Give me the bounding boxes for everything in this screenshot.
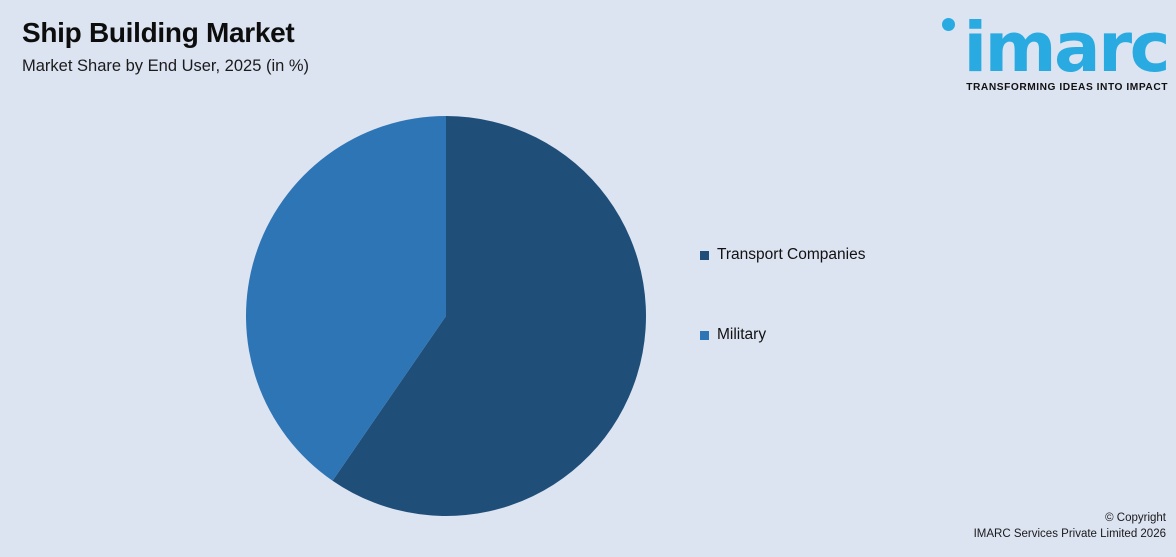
- logo-wordmark-text: imarc: [963, 14, 1168, 83]
- chart-legend: Transport Companies Military: [700, 244, 865, 404]
- imarc-logo: imarc TRANSFORMING IDEAS INTO IMPACT: [920, 10, 1168, 110]
- legend-swatch-icon: [700, 331, 709, 340]
- legend-item-label: Transport Companies: [717, 247, 865, 263]
- chart-subtitle: Market Share by End User, 2025 (in %): [22, 57, 722, 77]
- legend-swatch-icon: [700, 251, 709, 260]
- legend-item-military[interactable]: Military: [700, 324, 865, 346]
- copyright-line-2: IMARC Services Private Limited 2026: [974, 526, 1166, 543]
- copyright-line-1: © Copyright: [974, 510, 1166, 527]
- legend-item-transport-companies[interactable]: Transport Companies: [700, 244, 865, 266]
- pie-chart: [245, 115, 647, 517]
- pie-chart-svg: [245, 115, 647, 517]
- page-title: Ship Building Market: [22, 18, 722, 49]
- pie-slice-group: [246, 116, 646, 516]
- logo-dot-icon: [942, 18, 955, 31]
- logo-mark: imarc: [920, 10, 1168, 86]
- chart-header: Ship Building Market Market Share by End…: [22, 18, 722, 77]
- copyright-footer: © Copyright IMARC Services Private Limit…: [974, 510, 1166, 543]
- legend-item-label: Military: [717, 327, 766, 343]
